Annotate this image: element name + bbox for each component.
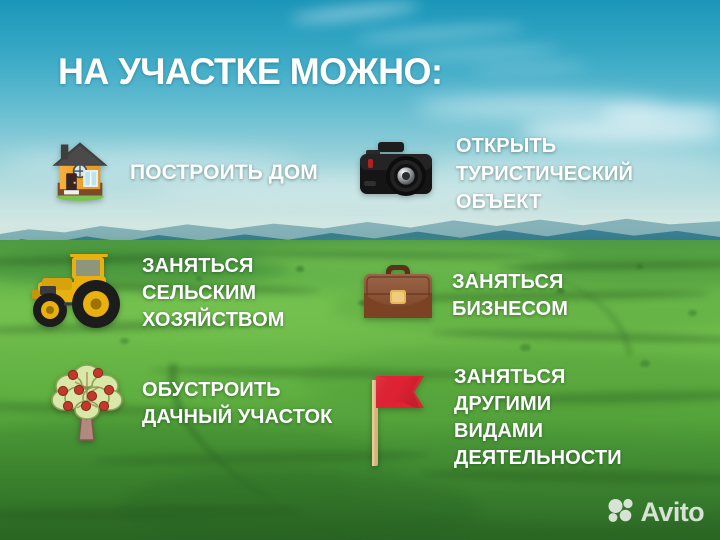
house-icon (46, 136, 114, 209)
avito-watermark: Avito (607, 497, 705, 528)
cloud (600, 104, 720, 124)
benefit-label-farming: ЗАНЯТЬСЯ СЕЛЬСКИМ ХОЗЯЙСТВОМ (142, 253, 284, 334)
page-title: НА УЧАСТКЕ МОЖНО: (58, 50, 442, 94)
benefit-item-farming: ЗАНЯТЬСЯ СЕЛЬСКИМ ХОЗЯЙСТВОМ (18, 248, 284, 339)
poster-image: НА УЧАСТКЕ МОЖНО: (0, 0, 720, 540)
bush (520, 344, 531, 351)
avito-dots-logo (607, 497, 635, 528)
bush (688, 310, 697, 316)
benefit-label-house: ПОСТРОИТЬ ДОМ (130, 160, 318, 186)
benefit-item-other: ЗАНЯТЬСЯ ДРУГИМИ ВИДАМИ ДЕЯТЕЛЬНОСТИ (360, 362, 622, 473)
bush (296, 266, 304, 272)
red-flag-icon (360, 362, 438, 473)
benefit-item-tourism: ОТКРЫТЬ ТУРИСТИЧЕСКИЙ ОБЪЕКТ (356, 132, 633, 216)
benefit-label-other: ЗАНЯТЬСЯ ДРУГИМИ ВИДАМИ ДЕЯТЕЛЬНОСТИ (454, 364, 622, 472)
briefcase-icon (358, 258, 438, 333)
bush (636, 264, 643, 269)
avito-wordmark: Avito (641, 499, 705, 526)
benefit-label-business: ЗАНЯТЬСЯ БИЗНЕСОМ (452, 269, 568, 323)
bush (640, 360, 650, 367)
benefit-item-house: ПОСТРОИТЬ ДОМ (46, 136, 318, 209)
camera-icon (356, 136, 440, 213)
benefit-item-business: ЗАНЯТЬСЯ БИЗНЕСОМ (358, 258, 568, 333)
benefit-label-tourism: ОТКРЫТЬ ТУРИСТИЧЕСКИЙ ОБЪЕКТ (456, 132, 633, 216)
benefit-label-dacha: ОБУСТРОИТЬ ДАЧНЫЙ УЧАСТОК (142, 377, 332, 431)
benefit-item-dacha: ОБУСТРОИТЬ ДАЧНЫЙ УЧАСТОК (46, 358, 332, 449)
tractor-icon (18, 248, 130, 339)
apple-tree-icon (46, 358, 128, 449)
